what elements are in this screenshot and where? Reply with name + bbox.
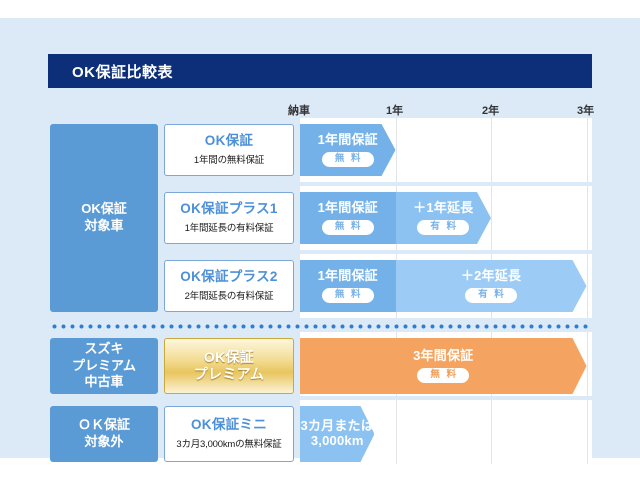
plan-card-ok-hosho[interactable]: OK保証1年間の無料保証: [164, 124, 294, 176]
gridline-year-1: [396, 118, 397, 182]
warranty-bar-ok-hosho: 1年間保証無 料: [300, 124, 396, 176]
segment-label: 1年間保証: [318, 201, 378, 216]
title-bar: OK保証比較表: [48, 54, 592, 88]
plan-description: 1年間延長の有料保証: [185, 220, 274, 234]
axis-label-year-1: 1年: [386, 102, 403, 118]
plan-description: 3カ月3,000kmの無料保証: [176, 436, 281, 450]
gridline-year-2: [491, 118, 492, 182]
group-label-ok-target: OK保証 対象車: [50, 124, 158, 312]
warranty-bar-ok-hosho-mini: 3カ月または 3,000km: [300, 406, 374, 462]
segment-label: 3年間保証: [413, 349, 473, 364]
plan-description: 1年間の無料保証: [194, 152, 264, 166]
plan-card-ok-hosho-plus2[interactable]: OK保証プラス22年間延長の有料保証: [164, 260, 294, 312]
gridline-year-2: [491, 400, 492, 464]
segment-label: ＋1年延長: [413, 201, 473, 216]
price-badge: 有 料: [417, 220, 469, 235]
section-divider: [50, 324, 592, 329]
warranty-comparison-screen: OK保証比較表 納車 1年 2年 3年 OK保証 対象車 スズキ プレミアム 中…: [0, 0, 640, 480]
price-badge: 無 料: [417, 368, 469, 383]
segment-label: 1年間保証: [318, 269, 378, 284]
segment-label: 1年間保証: [318, 133, 378, 148]
warranty-segment-mini-3m: 3カ月または 3,000km: [300, 406, 374, 462]
plan-card-ok-hosho-mini[interactable]: OK保証ミニ3カ月3,000kmの無料保証: [164, 406, 294, 462]
axis-label-delivery: 納車: [288, 102, 310, 118]
segment-label: ＋2年延長: [461, 269, 521, 284]
plan-name: OK保証プラス2: [180, 270, 277, 285]
price-badge: 無 料: [322, 220, 374, 235]
warranty-segment-base-1y: 1年間保証無 料: [300, 260, 396, 312]
gridline-year-3: [587, 254, 588, 318]
price-badge: 無 料: [322, 288, 374, 303]
segment-label: 3カ月または 3,000km: [301, 419, 374, 448]
gridline-year-3: [587, 400, 588, 464]
axis-label-year-2: 2年: [482, 102, 499, 118]
axis-label-year-3: 3年: [577, 102, 594, 118]
gridline-year-2: [491, 186, 492, 250]
gridline-year-3: [587, 186, 588, 250]
warranty-segment-ext-2y: ＋2年延長有 料: [396, 260, 587, 312]
gridline-year-3: [587, 118, 588, 182]
warranty-segment-premium-3y: 3年間保証無 料: [300, 338, 587, 394]
price-badge: 無 料: [322, 152, 374, 167]
page-title: OK保証比較表: [48, 61, 173, 82]
plan-name: OK保証ミニ: [191, 418, 267, 433]
price-badge: 有 料: [465, 288, 517, 303]
gridline-year-3: [587, 332, 588, 396]
warranty-bar-ok-hosho-premium: 3年間保証無 料: [300, 338, 587, 394]
warranty-bar-ok-hosho-plus1: 1年間保証無 料＋1年延長有 料: [300, 192, 491, 244]
group-label-ok-excluded: ＯＫ保証 対象外: [50, 406, 158, 462]
plan-description: 2年間延長の有料保証: [185, 288, 274, 302]
warranty-segment-base-1y: 1年間保証無 料: [300, 192, 396, 244]
plan-name: OK保証 プレミアム: [194, 349, 265, 383]
warranty-segment-base-1y: 1年間保証無 料: [300, 124, 396, 176]
plan-card-ok-hosho-plus1[interactable]: OK保証プラス11年間延長の有料保証: [164, 192, 294, 244]
warranty-segment-ext-1y: ＋1年延長有 料: [396, 192, 492, 244]
gridline-year-1: [396, 400, 397, 464]
plan-name: OK保証プラス1: [180, 202, 277, 217]
plan-card-ok-hosho-premium[interactable]: OK保証 プレミアム: [164, 338, 294, 394]
warranty-bar-ok-hosho-plus2: 1年間保証無 料＋2年延長有 料: [300, 260, 587, 312]
content-panel: OK保証比較表 納車 1年 2年 3年 OK保証 対象車 スズキ プレミアム 中…: [0, 18, 640, 458]
plan-name: OK保証: [205, 134, 253, 149]
group-label-suzuki-premium: スズキ プレミアム 中古車: [50, 338, 158, 394]
